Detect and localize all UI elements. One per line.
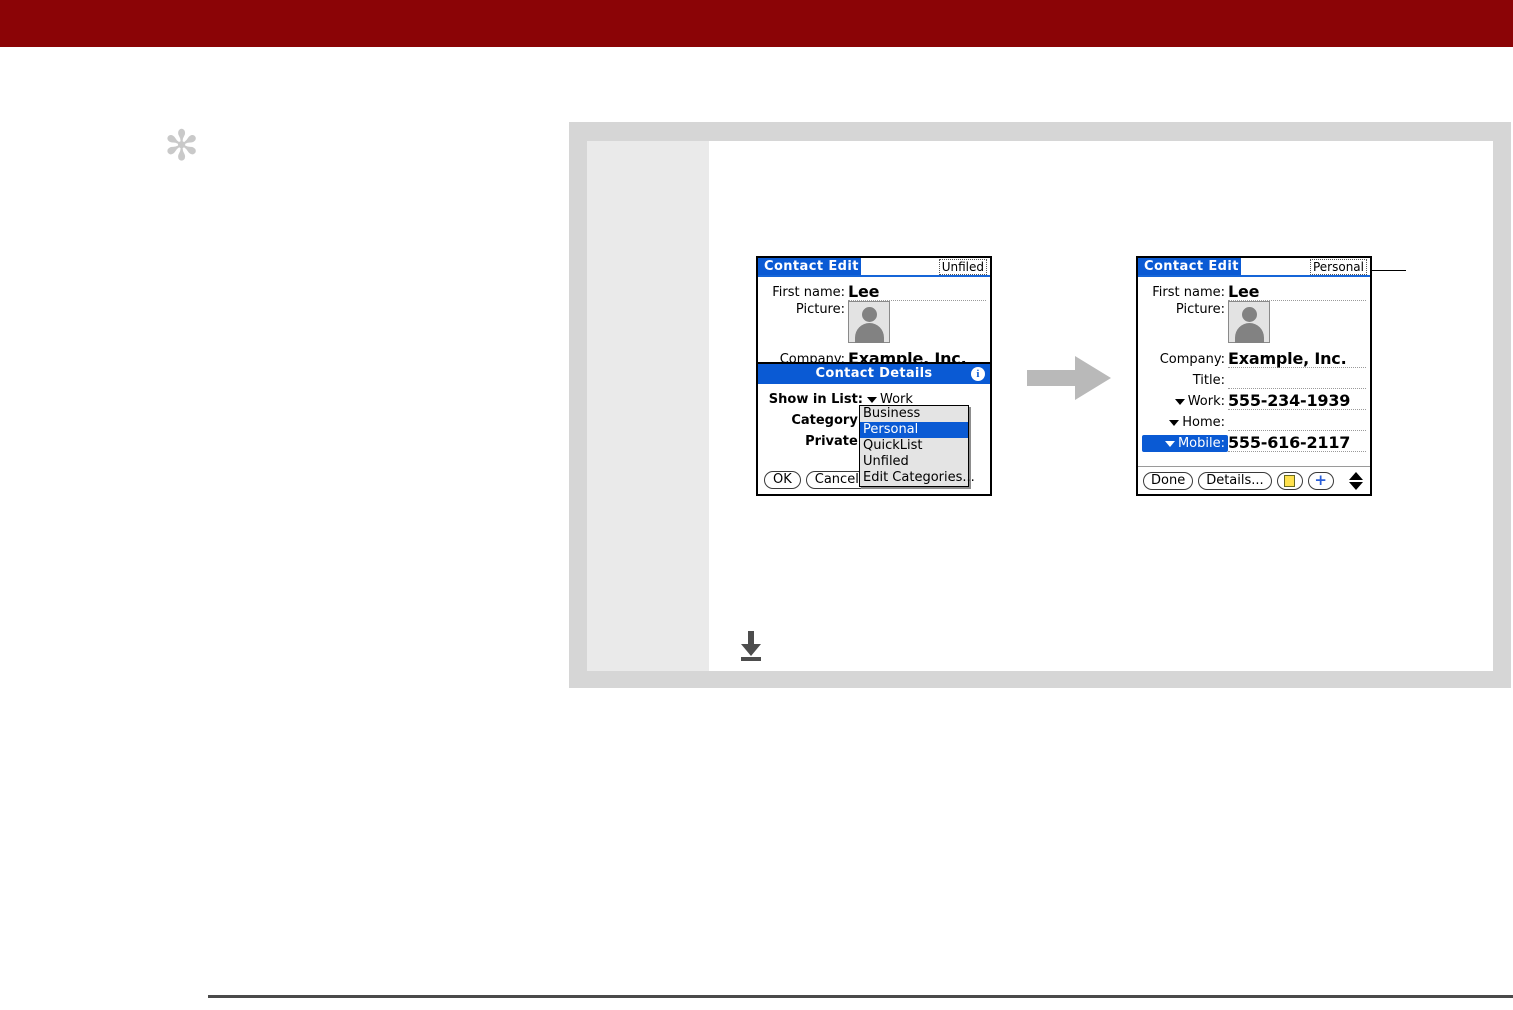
field-row-first-name-after[interactable]: First name: Lee (1142, 280, 1366, 301)
scroll-up-icon[interactable] (1349, 472, 1363, 480)
note-button[interactable] (1277, 472, 1303, 490)
dropdown-item-unfiled[interactable]: Unfiled (860, 454, 968, 470)
note-icon (1284, 475, 1295, 487)
dialog-title-text: Contact Details (816, 366, 933, 381)
field-list-before: First name: Lee Picture: Company: Exampl… (758, 277, 990, 368)
dropdown-item-personal[interactable]: Personal (860, 422, 968, 438)
done-button[interactable]: Done (1143, 472, 1193, 490)
field-value-mobile-after[interactable]: 555-616-2117 (1228, 434, 1366, 452)
field-row-picture[interactable]: Picture: (762, 301, 986, 347)
field-value-work-after[interactable]: 555-234-1939 (1228, 392, 1366, 410)
field-label-first-name-after: First name: (1142, 284, 1228, 301)
dialog-button-row: OK Cancel (764, 471, 873, 489)
field-value-first-name-after[interactable]: Lee (1228, 283, 1366, 301)
field-row-home-after[interactable]: Home: (1142, 410, 1366, 431)
palm-toolbar-after: Done Details... + (1138, 466, 1370, 494)
titlebar-after: Contact Edit Personal (1138, 258, 1370, 277)
app-title-before: Contact Edit (764, 259, 859, 274)
category-picker-before[interactable]: Unfiled (939, 259, 987, 275)
callout-leader-line (1372, 270, 1406, 271)
field-row-company-after[interactable]: Company: Example, Inc. (1142, 347, 1366, 368)
dropdown-item-edit-categories[interactable]: Edit Categories... (860, 470, 968, 486)
field-label-mobile-after[interactable]: Mobile: (1142, 435, 1228, 452)
plus-icon: + (1314, 474, 1327, 487)
field-label-first-name: First name: (762, 284, 848, 301)
scroll-down-icon[interactable] (1349, 482, 1363, 490)
flow-arrow-icon (1027, 352, 1111, 404)
field-label-work-after: Work: (1142, 393, 1228, 410)
field-list-after: First name: Lee Picture: Company: Exampl… (1138, 277, 1370, 452)
footer-rule (208, 995, 1513, 998)
details-button[interactable]: Details... (1198, 472, 1271, 490)
field-value-first-name[interactable]: Lee (848, 283, 986, 301)
field-label-picture: Picture: (762, 301, 848, 318)
field-row-title-after[interactable]: Title: (1142, 368, 1366, 389)
dialog-label-show-in-list: Show in List: (764, 392, 867, 407)
chevron-down-icon (867, 397, 877, 403)
category-picker-after[interactable]: Personal (1310, 259, 1367, 275)
field-row-mobile-after[interactable]: Mobile: 555-616-2117 (1142, 431, 1366, 452)
scroll-arrows[interactable] (1349, 472, 1363, 490)
field-row-work-after[interactable]: Work: 555-234-1939 (1142, 389, 1366, 410)
app-title-after: Contact Edit (1144, 259, 1239, 274)
avatar-person-icon-after[interactable] (1228, 301, 1270, 343)
dialog-label-category: Category: (764, 413, 867, 428)
field-label-picture-after: Picture: (1142, 301, 1228, 318)
palm-screen-after: Contact Edit Personal First name: Lee Pi… (1136, 256, 1372, 496)
field-row-first-name[interactable]: First name: Lee (762, 280, 986, 301)
chevron-down-icon-home[interactable] (1169, 420, 1179, 426)
field-label-home-after: Home: (1142, 414, 1228, 431)
dropdown-item-quicklist[interactable]: QuickList (860, 438, 968, 454)
field-label-title-after: Title: (1142, 372, 1228, 389)
ok-button[interactable]: OK (764, 471, 801, 489)
avatar-person-icon[interactable] (848, 301, 890, 343)
field-label-company-after: Company: (1142, 351, 1228, 368)
dialog-label-private: Private: (764, 434, 867, 449)
field-value-company-after[interactable]: Example, Inc. (1228, 350, 1366, 368)
chevron-down-icon-work[interactable] (1175, 399, 1185, 405)
tip-asterisk-icon: ✻ (164, 126, 198, 166)
dialog-titlebar: Contact Details i (758, 364, 990, 384)
field-row-picture-after[interactable]: Picture: (1142, 301, 1366, 347)
titlebar-before: Contact Edit Unfiled (758, 258, 990, 277)
dropdown-item-business[interactable]: Business (860, 406, 968, 422)
chevron-down-icon-mobile[interactable] (1165, 441, 1175, 447)
figure-sidebar (587, 141, 709, 671)
category-dropdown-list[interactable]: Business Personal QuickList Unfiled Edit… (859, 405, 969, 487)
info-icon[interactable]: i (971, 367, 985, 381)
download-arrow-icon[interactable] (737, 631, 765, 661)
page-header-band (0, 0, 1513, 47)
add-field-button[interactable]: + (1308, 472, 1334, 490)
